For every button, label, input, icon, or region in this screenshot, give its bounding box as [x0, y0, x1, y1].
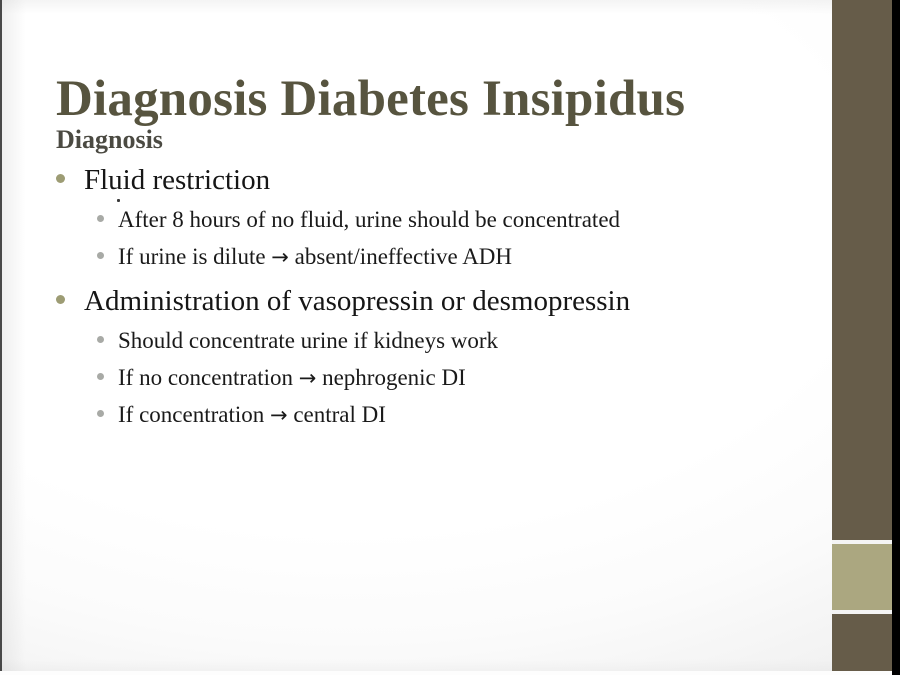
bullet-text: If urine is dilute → absent/ineffective …	[118, 239, 512, 275]
bullet-item-level2: If no concentration → nephrogenic DI	[56, 360, 796, 396]
bullet-item-level1: Administration of vasopressin or desmopr…	[56, 281, 796, 321]
bullet-dot-icon	[97, 336, 104, 343]
bullet-dot-icon	[97, 373, 104, 380]
right-decorative-band	[832, 0, 892, 675]
bullet-text: If concentration → central DI	[118, 397, 386, 433]
slide-title: Diagnosis Diabetes Insipidus	[56, 70, 685, 128]
band-gap-upper	[832, 540, 892, 544]
bullet-item-level2: After 8 hours of no fluid, urine should …	[56, 202, 796, 238]
presentation-slide: Diagnosis Diabetes Insipidus Diagnosis F…	[0, 0, 900, 675]
bullet-text: If no concentration → nephrogenic DI	[118, 360, 466, 396]
bullet-item-level2: If concentration → central DI	[56, 397, 796, 433]
bottom-edge-strip	[0, 671, 892, 675]
band-accent-block	[832, 543, 892, 610]
right-edge-strip	[892, 0, 900, 675]
bullet-dot-icon	[97, 410, 104, 417]
bullet-text: Administration of vasopressin or desmopr…	[84, 281, 630, 321]
bullet-dot-icon	[97, 215, 104, 222]
bullet-item-level2: Should concentrate urine if kidneys work	[56, 323, 796, 359]
bullet-item-level1: Fluid restriction	[56, 160, 796, 200]
right-arrow-icon: →	[271, 245, 289, 269]
bullet-dot-icon	[56, 174, 65, 183]
band-gap-lower	[832, 610, 892, 614]
left-edge-rule	[0, 0, 2, 675]
slide-body: Fluid restriction After 8 hours of no fl…	[56, 160, 796, 434]
right-arrow-icon: →	[270, 403, 288, 427]
bullet-dot-icon	[97, 252, 104, 259]
bullet-dot-icon	[56, 295, 65, 304]
bullet-text: After 8 hours of no fluid, urine should …	[118, 202, 620, 238]
right-arrow-icon: →	[299, 366, 317, 390]
slide-subtitle: Diagnosis	[56, 124, 163, 156]
bullet-text: Fluid restriction	[84, 160, 270, 200]
bullet-text: Should concentrate urine if kidneys work	[118, 323, 498, 359]
bullet-item-level2: If urine is dilute → absent/ineffective …	[56, 239, 796, 275]
